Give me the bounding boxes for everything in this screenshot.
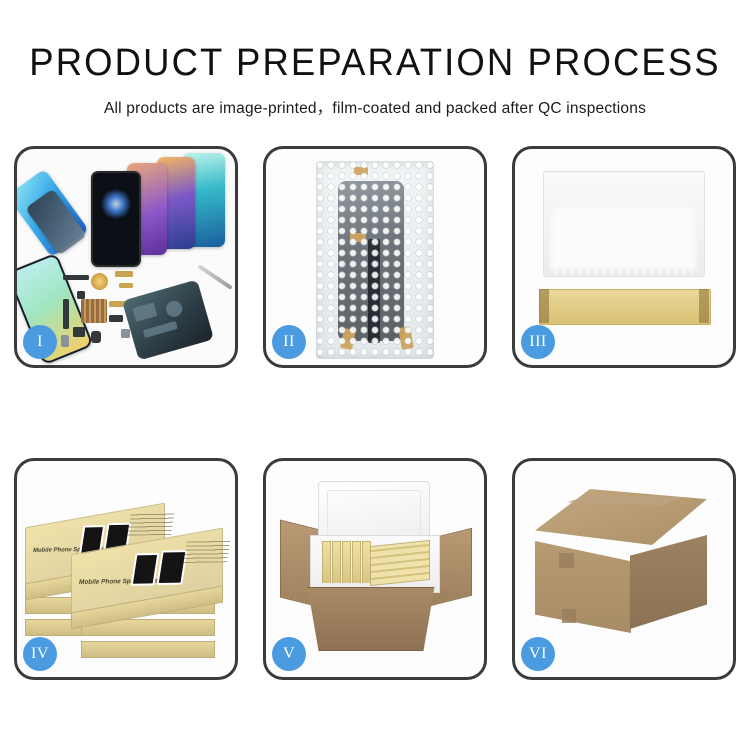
carton-right-face	[630, 535, 707, 629]
product-preparation-page: PRODUCT PREPARATION PROCESS All products…	[0, 0, 750, 750]
black-notched-screen-icon	[91, 171, 141, 267]
carton-body	[302, 587, 440, 651]
packing-tape	[562, 609, 576, 623]
small-part	[121, 329, 130, 338]
small-part	[91, 331, 101, 343]
box-side-right	[699, 289, 709, 323]
bubble-wrap-bag-icon	[316, 161, 434, 359]
box-stack: Mobile Phone Spare Parts Mobile Phone Sp…	[25, 479, 231, 657]
label-lines	[128, 513, 175, 536]
gold-coil-icon	[91, 273, 108, 290]
phone-screen-image	[157, 550, 188, 585]
small-part	[73, 327, 85, 337]
small-part	[63, 275, 89, 280]
bubble-texture	[316, 161, 434, 359]
process-row-2: Mobile Phone Spare Parts Mobile Phone Sp…	[14, 458, 736, 680]
small-part	[63, 299, 69, 329]
panel-step-3: III	[512, 146, 736, 368]
step-badge-4: IV	[23, 637, 57, 671]
carton-left-face	[535, 541, 631, 633]
small-part	[61, 335, 69, 347]
panel-step-6: VI	[512, 458, 736, 680]
kraft-box-base-icon	[539, 289, 711, 325]
chip-grid-icon	[81, 299, 107, 323]
page-title: PRODUCT PREPARATION PROCESS	[15, 44, 735, 82]
tweezers-icon	[197, 264, 232, 290]
label-lines	[184, 540, 231, 563]
page-subtitle: All products are image-printed，film-coat…	[0, 96, 750, 118]
small-part	[109, 315, 123, 322]
small-part	[115, 271, 133, 277]
panel-step-1: I	[14, 146, 238, 368]
panel-step-4: Mobile Phone Spare Parts Mobile Phone Sp…	[14, 458, 238, 680]
step-badge-6: VI	[521, 637, 555, 671]
small-part	[119, 283, 133, 288]
box-side-left	[539, 289, 549, 323]
stacked-box	[81, 641, 215, 661]
page-header: PRODUCT PREPARATION PROCESS All products…	[0, 0, 750, 118]
small-part	[77, 291, 85, 299]
packing-tape	[559, 553, 574, 568]
process-grid: I II	[14, 146, 736, 680]
phone-chassis-icon	[122, 279, 214, 360]
process-row-1: I II	[14, 146, 736, 368]
step-badge-3: III	[521, 325, 555, 359]
yellow-boxes-flat	[370, 540, 430, 586]
step-badge-5: V	[272, 637, 306, 671]
foam-sheet-icon	[549, 205, 697, 271]
panel-step-5: V	[263, 458, 487, 680]
step-badge-1: I	[23, 325, 57, 359]
step-badge-2: II	[272, 325, 306, 359]
panel-step-2: II	[263, 146, 487, 368]
